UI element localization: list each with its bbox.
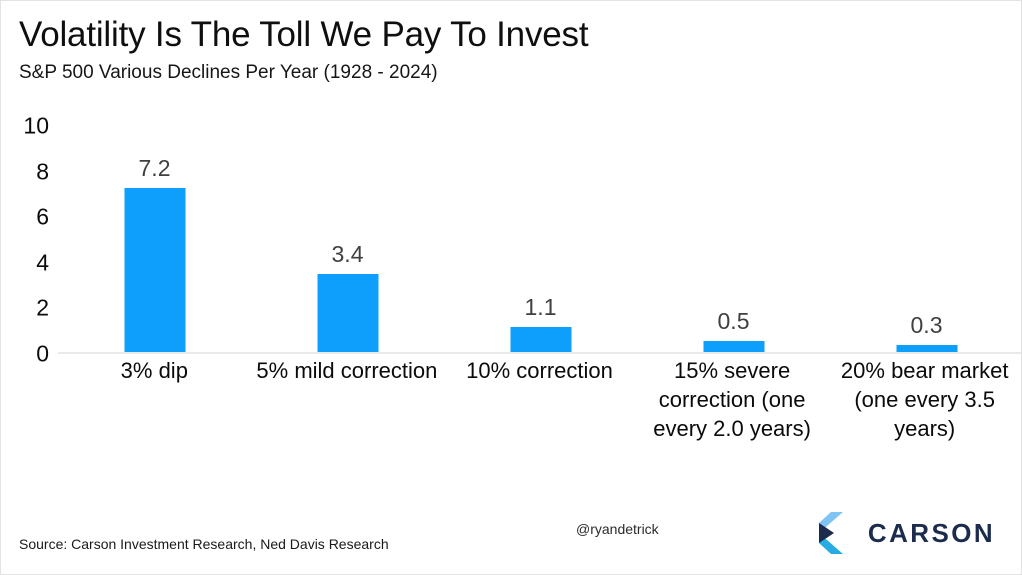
x-axis-tick-label: 10% correction [443,356,636,385]
y-axis-tick-label: 6 [36,206,49,229]
bar-value-label: 0.3 [911,314,943,337]
y-axis: 0246810 [1,114,49,354]
bar-value-label: 1.1 [525,296,557,319]
y-axis-tick-label: 0 [36,343,49,366]
bar[interactable] [510,327,571,352]
bar-group: 7.2 [58,126,251,354]
bar-group: 1.1 [444,126,637,354]
bar-group: 3.4 [251,126,444,354]
y-axis-tick-label: 2 [36,297,49,320]
y-axis-tick-label: 4 [36,251,49,274]
x-axis-tick-label: 3% dip [58,356,251,385]
bar-value-label: 7.2 [139,157,171,180]
bar-group: 0.3 [830,126,1022,354]
author-handle: @ryandetrick [576,521,659,537]
x-axis-tick-label: 5% mild correction [251,356,444,385]
carson-chevron-icon [819,512,855,554]
carson-wordmark: CARSON [868,520,995,546]
bar[interactable] [124,188,185,352]
chart-header: Volatility Is The Toll We Pay To Invest … [1,1,1021,85]
chart-card: Volatility Is The Toll We Pay To Invest … [0,0,1022,575]
carson-logo: CARSON [819,512,995,554]
bar[interactable] [703,341,764,352]
y-axis-tick-label: 8 [36,160,49,183]
x-axis-tick-label: 20% bear market (one every 3.5 years) [828,356,1021,443]
chart-subtitle: S&P 500 Various Declines Per Year (1928 … [19,62,1021,85]
page-title: Volatility Is The Toll We Pay To Invest [19,15,1021,54]
x-axis-tick-label: 15% severe correction (one every 2.0 yea… [636,356,829,443]
plot-area: 7.23.41.10.50.3 [58,126,1022,354]
bar-value-label: 0.5 [718,310,750,333]
x-axis: 3% dip5% mild correction10% correction15… [58,356,1021,496]
bar-group: 0.5 [637,126,830,354]
chart-footer: Source: Carson Investment Research, Ned … [1,504,1021,574]
bar[interactable] [896,345,957,352]
bar[interactable] [317,274,378,352]
y-axis-tick-label: 10 [23,115,49,138]
plot-region: 0246810 7.23.41.10.50.3 [1,114,1022,354]
source-note: Source: Carson Investment Research, Ned … [19,536,389,552]
bar-value-label: 3.4 [332,243,364,266]
